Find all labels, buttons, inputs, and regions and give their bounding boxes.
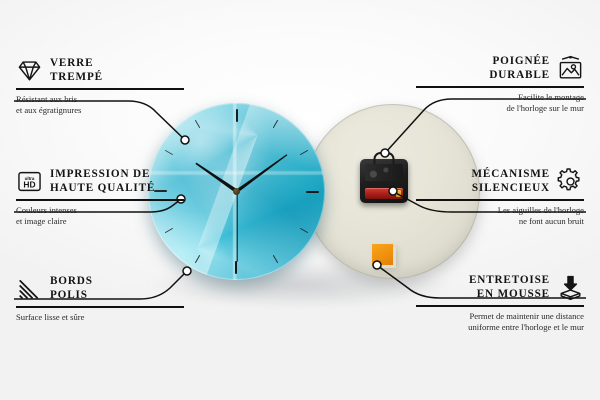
feature-impression-haute-qualite: ultra HD IMPRESSION DE HAUTE QUALITÉ Cou… bbox=[16, 168, 184, 227]
hanging-picture-frame-icon bbox=[557, 55, 584, 82]
feature-desc-line1: Couleurs intenses bbox=[16, 205, 77, 215]
second-hand bbox=[236, 192, 237, 262]
gear-icon bbox=[557, 168, 584, 195]
feature-bords-polis: BORDS POLIS Surface lisse et sûre bbox=[16, 275, 184, 323]
feature-description: Facilite le montage de l'horloge sur le … bbox=[416, 92, 584, 114]
diamond-icon bbox=[16, 57, 43, 84]
feature-header: MÉCANISME SILENCIEUX bbox=[416, 168, 584, 195]
feature-title-line2: TREMPÉ bbox=[50, 71, 103, 83]
feature-divider bbox=[16, 306, 184, 308]
feature-header: ultra HD IMPRESSION DE HAUTE QUALITÉ bbox=[16, 168, 184, 195]
feature-title: VERRE TREMPÉ bbox=[50, 57, 103, 84]
feature-title-line1: MÉCANISME bbox=[471, 168, 550, 180]
feature-divider bbox=[16, 88, 184, 90]
feature-divider bbox=[416, 86, 584, 88]
feature-description: Couleurs intenses et image claire bbox=[16, 205, 184, 227]
product-infographic: VERRE TREMPÉ Résistant aux bris et aux é… bbox=[0, 0, 600, 400]
feature-title-line1: ENTRETOISE bbox=[469, 274, 550, 286]
feature-entretoise-en-mousse: ENTRETOISE EN MOUSSE Permet de maintenir… bbox=[416, 274, 584, 333]
feature-desc-line1: Permet de maintenir une distance bbox=[469, 311, 584, 321]
feature-header: BORDS POLIS bbox=[16, 275, 184, 302]
feature-divider bbox=[416, 305, 584, 307]
feature-description: Résistant aux bris et aux égratignures bbox=[16, 94, 184, 116]
feature-title-line1: BORDS bbox=[50, 275, 93, 287]
feature-title-line2: HAUTE QUALITÉ bbox=[50, 182, 155, 194]
feature-desc-line1: Résistant aux bris bbox=[16, 94, 77, 104]
feature-divider bbox=[416, 199, 584, 201]
feature-desc-line2: de l'horloge sur le mur bbox=[507, 103, 584, 113]
feature-desc-line2: et aux égratignures bbox=[16, 105, 81, 115]
feature-mecanisme-silencieux: MÉCANISME SILENCIEUX Les aiguilles de l'… bbox=[416, 168, 584, 227]
feature-description: Surface lisse et sûre bbox=[16, 312, 184, 323]
clock-center-cap bbox=[233, 188, 240, 195]
feature-desc-line1: Les aiguilles de l'horloge bbox=[498, 205, 584, 215]
feature-title: MÉCANISME SILENCIEUX bbox=[471, 168, 550, 195]
battery bbox=[365, 188, 403, 199]
svg-text:HD: HD bbox=[23, 179, 35, 189]
feature-desc-line2: et image claire bbox=[16, 216, 67, 226]
feature-description: Les aiguilles de l'horloge ne font aucun… bbox=[416, 205, 584, 227]
feature-header: VERRE TREMPÉ bbox=[16, 57, 184, 84]
mechanism-detail bbox=[365, 164, 403, 181]
feature-desc-line1: Facilite le montage bbox=[518, 92, 584, 102]
feature-title-line1: VERRE bbox=[50, 57, 93, 69]
feature-title-line2: POLIS bbox=[50, 289, 88, 301]
feature-desc-line2: ne font aucun bruit bbox=[519, 216, 584, 226]
feature-verre-trempe: VERRE TREMPÉ Résistant aux bris et aux é… bbox=[16, 57, 184, 116]
feature-desc-line2: uniforme entre l'horloge et le mur bbox=[468, 322, 584, 332]
ultra-hd-icon: ultra HD bbox=[16, 168, 43, 195]
feature-divider bbox=[16, 199, 184, 201]
feature-header: POIGNÉE DURABLE bbox=[416, 55, 584, 82]
feature-header: ENTRETOISE EN MOUSSE bbox=[416, 274, 584, 301]
feature-title-line2: DURABLE bbox=[489, 69, 550, 81]
feature-title-line1: IMPRESSION DE bbox=[50, 168, 150, 180]
clock-mechanism bbox=[360, 159, 408, 203]
diagonal-stripes-icon bbox=[16, 275, 43, 302]
feature-poignee-durable: POIGNÉE DURABLE Facilite le montage de l… bbox=[416, 55, 584, 114]
feature-title: ENTRETOISE EN MOUSSE bbox=[469, 274, 550, 301]
feature-title: BORDS POLIS bbox=[50, 275, 93, 302]
feature-title-line1: POIGNÉE bbox=[492, 55, 550, 67]
foam-spacer-press-icon bbox=[557, 274, 584, 301]
feature-description: Permet de maintenir une distance uniform… bbox=[416, 311, 584, 333]
feature-title: POIGNÉE DURABLE bbox=[489, 55, 550, 82]
foam-spacer-pad bbox=[372, 244, 393, 265]
feature-title-line2: SILENCIEUX bbox=[472, 182, 550, 194]
feature-desc-line1: Surface lisse et sûre bbox=[16, 312, 85, 322]
feature-title-line2: EN MOUSSE bbox=[477, 288, 550, 300]
feature-title: IMPRESSION DE HAUTE QUALITÉ bbox=[50, 168, 155, 195]
